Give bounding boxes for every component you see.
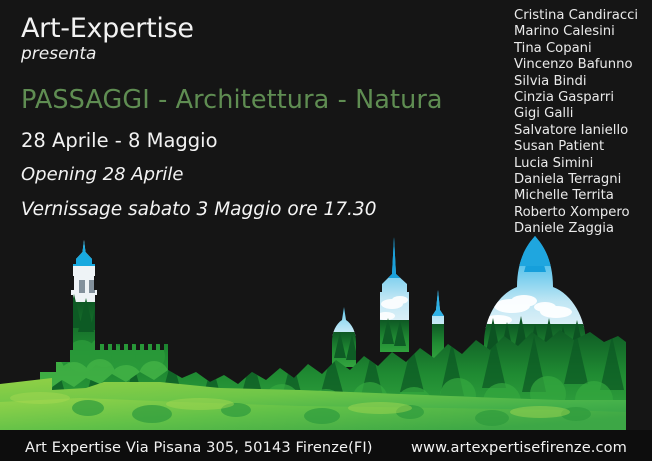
artist-name: Gigi Galli (514, 106, 638, 122)
exhibition-dates: 28 Aprile - 8 Maggio (21, 130, 491, 152)
artist-list: Cristina Candiracci Marino Calesini Tina… (514, 8, 638, 238)
artist-name: Salvatore Ianiello (514, 123, 638, 139)
artist-name: Susan Patient (514, 139, 638, 155)
artist-name: Roberto Xompero (514, 205, 638, 221)
vernissage-line: Vernissage sabato 3 Maggio ore 17.30 (21, 199, 491, 220)
artist-name: Vincenzo Bafunno (514, 57, 638, 73)
presenta-label: presenta (21, 45, 491, 64)
artist-name: Michelle Territa (514, 188, 638, 204)
exhibition-title: PASSAGGI - Architettura - Natura (21, 86, 491, 115)
artist-name: Marino Calesini (514, 24, 638, 40)
footer-address: Art Expertise Via Pisana 305, 50143 Fire… (25, 439, 373, 456)
artist-name: Cinzia Gasparri (514, 90, 638, 106)
artist-name: Daniele Zaggia (514, 221, 638, 237)
footer-website[interactable]: www.artexpertisefirenze.com (411, 439, 627, 456)
brand-title: Art-Expertise (21, 14, 491, 43)
poster-text-block: Art-Expertise presenta PASSAGGI - Archit… (21, 14, 491, 220)
artist-name: Tina Copani (514, 41, 638, 57)
florence-skyline-artwork (0, 232, 626, 430)
artist-name: Daniela Terragni (514, 172, 638, 188)
artist-name: Silvia Bindi (514, 74, 638, 90)
artist-name: Cristina Candiracci (514, 8, 638, 24)
artist-name: Lucia Simini (514, 156, 638, 172)
exhibition-poster: Art-Expertise presenta PASSAGGI - Archit… (0, 0, 652, 461)
opening-line: Opening 28 Aprile (21, 165, 491, 186)
